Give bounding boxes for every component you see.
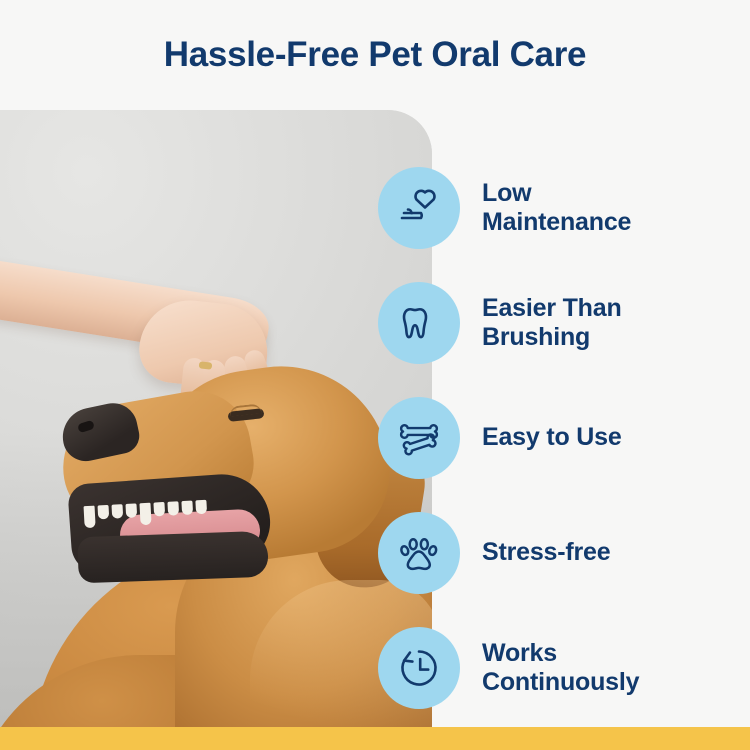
dog-bones-icon (378, 397, 460, 479)
wedding-ring (199, 361, 213, 369)
paw-print-icon (378, 512, 460, 594)
pet-photo (0, 110, 432, 727)
tooth (181, 500, 193, 515)
title-bar: Hassle-Free Pet Oral Care (0, 0, 750, 110)
feature-label: Easy to Use (482, 423, 622, 452)
page-title: Hassle-Free Pet Oral Care (164, 35, 586, 75)
heart-in-hand-icon (378, 167, 460, 249)
tooth (153, 502, 165, 517)
dog-lower-jaw (77, 531, 268, 584)
tooth (195, 500, 207, 515)
tooth (125, 503, 137, 518)
feature-label: Stress-free (482, 538, 610, 567)
clock-refresh-icon (378, 627, 460, 709)
bottom-accent-bar (0, 727, 750, 750)
feature-list: Low Maintenance Easier Than Brushing Eas… (378, 150, 750, 725)
tooth-icon (378, 282, 460, 364)
feature-item-stress-free: Stress-free (378, 495, 750, 610)
feature-item-easy-to-use: Easy to Use (378, 380, 750, 495)
feature-label: Low Maintenance (482, 179, 631, 236)
feature-item-low-maintenance: Low Maintenance (378, 150, 750, 265)
feature-label: Works Continuously (482, 639, 639, 696)
tooth (84, 506, 96, 529)
feature-item-works-continuously: Works Continuously (378, 610, 750, 725)
feature-item-easier-than-brushing: Easier Than Brushing (378, 265, 750, 380)
tooth (167, 501, 179, 516)
tooth (111, 504, 123, 519)
tooth (98, 505, 110, 520)
tooth (139, 503, 151, 526)
infographic-page: Hassle-Free Pet Oral Care (0, 0, 750, 750)
feature-label: Easier Than Brushing (482, 294, 622, 351)
